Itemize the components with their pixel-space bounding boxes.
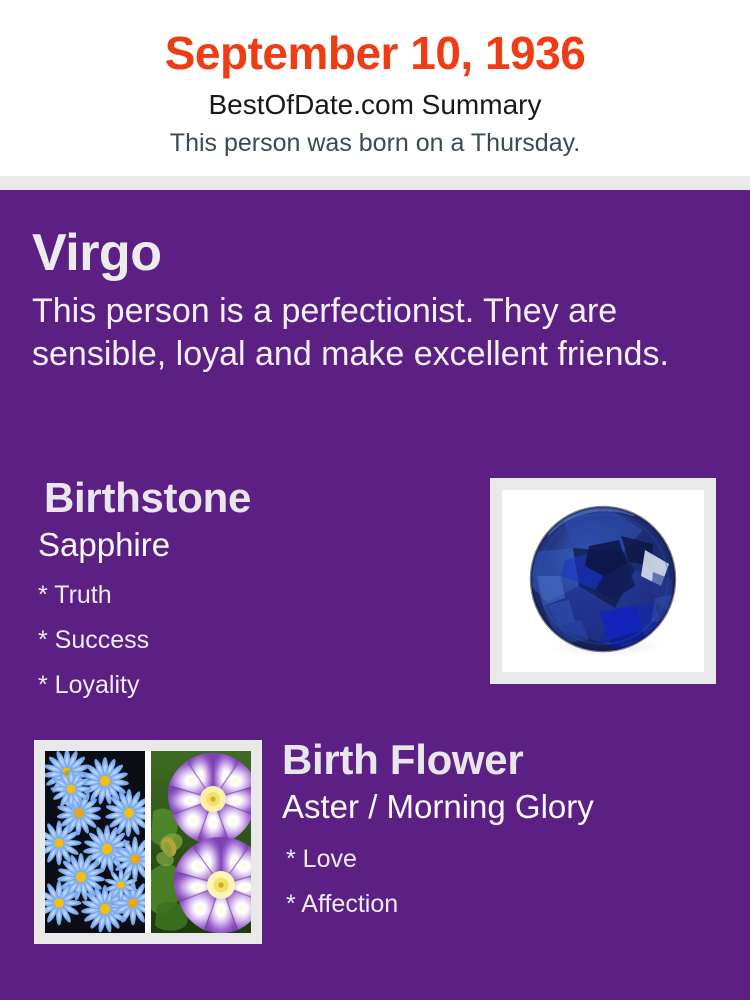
birthflower-image-frame xyxy=(34,740,262,944)
sapphire-gem-icon xyxy=(502,490,704,672)
list-item: * Affection xyxy=(286,882,732,927)
birthstone-section: Birthstone Sapphire * Truth * Success * … xyxy=(36,473,456,708)
birthflower-name: Aster / Morning Glory xyxy=(282,787,732,827)
birthflower-image-inner xyxy=(45,751,251,933)
zodiac-description: This person is a perfectionist. They are… xyxy=(32,290,672,376)
birthflower-attribute-list: * Love * Affection xyxy=(286,837,732,927)
card-header: September 10, 1936 BestOfDate.com Summar… xyxy=(0,0,750,176)
page-title-date: September 10, 1936 xyxy=(0,24,750,82)
list-item: * Love xyxy=(286,837,732,882)
birthstone-image-frame xyxy=(490,478,716,684)
list-item: * Success xyxy=(38,618,456,663)
header-divider xyxy=(0,176,750,190)
zodiac-sign-title: Virgo xyxy=(32,224,161,282)
birthflower-section: Birth Flower Aster / Morning Glory * Lov… xyxy=(282,735,732,927)
list-item: * Loyality xyxy=(38,663,456,708)
summary-card: September 10, 1936 BestOfDate.com Summar… xyxy=(0,0,750,1000)
birthstone-attribute-list: * Truth * Success * Loyality xyxy=(38,573,456,708)
birthstone-heading: Birthstone xyxy=(44,473,456,523)
weekday-note: This person was born on a Thursday. xyxy=(0,128,750,159)
birthstone-image-inner xyxy=(502,490,704,672)
list-item: * Truth xyxy=(38,573,456,618)
site-name-subtitle: BestOfDate.com Summary xyxy=(0,88,750,122)
birthstone-name: Sapphire xyxy=(38,525,456,565)
aster-morning-glory-icon xyxy=(45,751,251,933)
details-panel: Virgo This person is a perfectionist. Th… xyxy=(0,190,750,1000)
birthflower-heading: Birth Flower xyxy=(282,735,732,785)
